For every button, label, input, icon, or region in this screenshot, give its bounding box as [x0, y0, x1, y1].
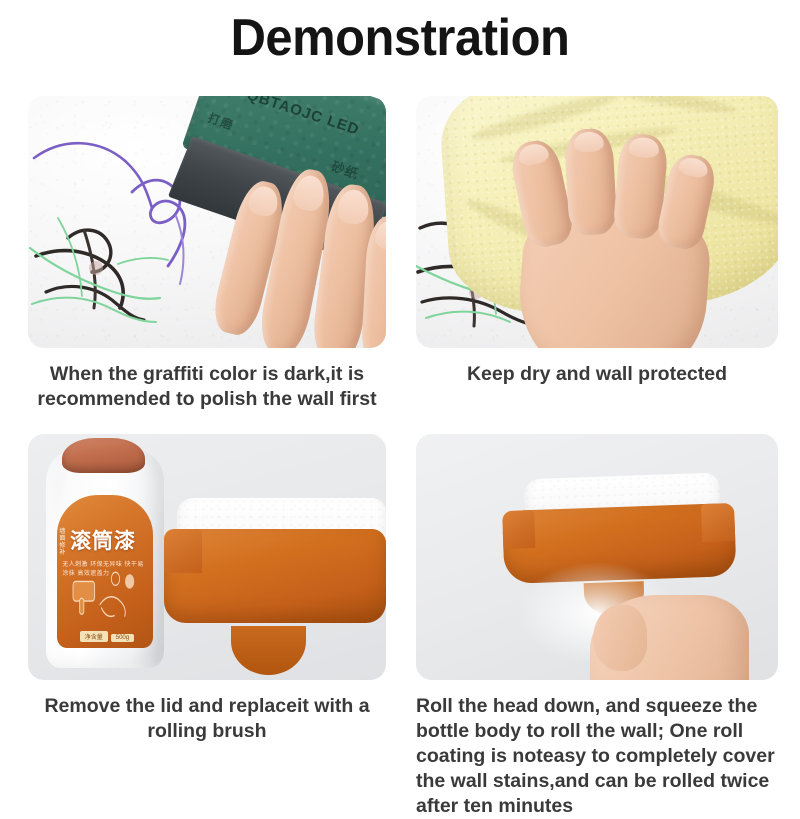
roller-arm-right — [701, 502, 735, 541]
paint-bottle: 墙面修补 滚筒漆 无人刺激 环保无异味 快干易涂抹 高效遮盖力 净含量 — [46, 451, 164, 667]
bottle-cap — [62, 438, 145, 473]
fingernail — [292, 173, 328, 213]
sponge-print-cn-1: 打磨 — [206, 109, 236, 134]
step-card-2: Keep dry and wall protected — [400, 96, 800, 412]
step-caption-2: Keep dry and wall protected — [416, 362, 778, 387]
label-title: 滚筒漆 — [70, 525, 151, 555]
roller-brush-head — [164, 498, 386, 641]
fingernail — [246, 182, 281, 218]
hand-wiping-wall — [502, 124, 736, 348]
fingernail — [628, 137, 660, 159]
step-card-4: Roll the head down, and squeeze the bott… — [400, 434, 800, 819]
step-caption-1: When the graffiti color is dark,it is re… — [28, 362, 386, 412]
label-weight: 500g — [111, 634, 134, 642]
sponge-print-brand: QBTAOJC LED — [245, 96, 362, 138]
page-title: Demonstration — [24, 8, 776, 68]
thumb — [593, 605, 647, 672]
step-card-3: 墙面修补 滚筒漆 无人刺激 环保无异味 快干易涂抹 高效遮盖力 净含量 — [0, 434, 400, 819]
fingernail — [517, 141, 551, 167]
hand-squeezing-bottle — [590, 577, 749, 680]
label-badge: 净含量 — [80, 631, 108, 642]
step-caption-3: Remove the lid and replaceit with a roll… — [28, 694, 386, 744]
photo-wipe-with-cloth — [416, 96, 778, 348]
demonstration-page: Demonstration — [0, 0, 800, 800]
fingernail — [375, 220, 386, 250]
roller-frame — [164, 529, 386, 623]
roller-arm — [164, 529, 202, 572]
label-side-text: 墙面修补 — [59, 528, 68, 556]
label-illustration — [63, 571, 146, 623]
photo-roll-the-wall — [416, 434, 778, 680]
hand-holding-sponge — [207, 155, 386, 348]
roller-arm-left — [502, 509, 536, 548]
step-card-1: QBTAOJC LED 打磨 砂纸 — [0, 96, 400, 412]
fingernail — [335, 188, 370, 225]
step-caption-4: Roll the head down, and squeeze the bott… — [416, 694, 778, 819]
fingernail — [573, 132, 605, 154]
photo-bottle-and-roller-head: 墙面修补 滚筒漆 无人刺激 环保无异味 快干易涂抹 高效遮盖力 净含量 — [28, 434, 386, 680]
bottle-label: 墙面修补 滚筒漆 无人刺激 环保无异味 快干易涂抹 高效遮盖力 净含量 — [57, 495, 154, 649]
photo-sand-graffiti-wall: QBTAOJC LED 打磨 砂纸 — [28, 96, 386, 348]
steps-grid: QBTAOJC LED 打磨 砂纸 — [0, 96, 800, 819]
fingernail — [678, 156, 710, 180]
